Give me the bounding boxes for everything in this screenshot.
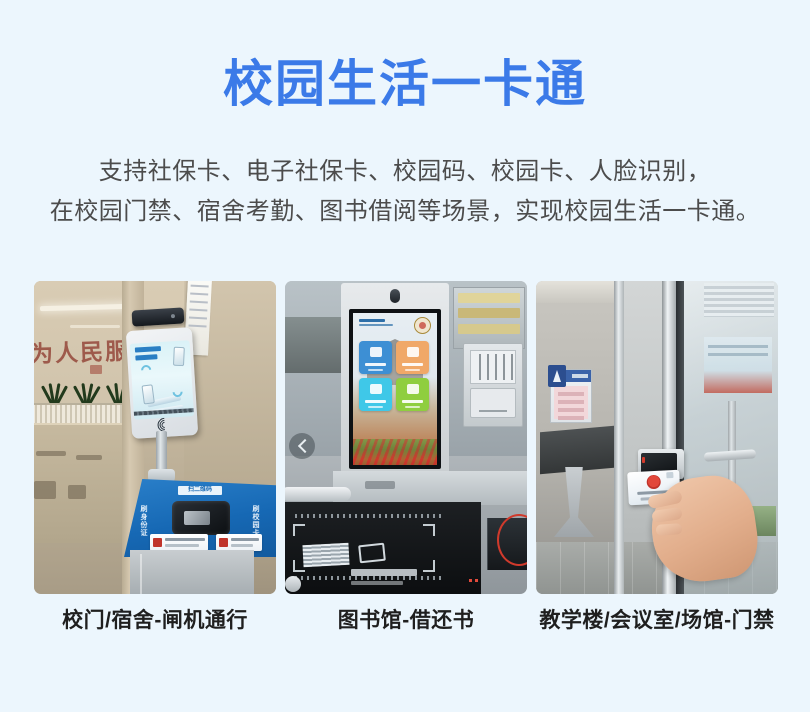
caption-library-kiosk: 图书馆-借还书 — [285, 606, 527, 636]
self-service-kiosk[interactable] — [341, 283, 449, 479]
kiosk-tile-return[interactable] — [396, 341, 429, 374]
kiosk-tile-borrow[interactable] — [359, 341, 392, 374]
screen-headline-icon — [135, 346, 161, 353]
screen-subheadline-icon — [135, 354, 157, 360]
panel-sticker-label — [150, 534, 208, 551]
nfc-wave-icon — [139, 363, 153, 377]
panel-sticker-label — [216, 534, 262, 551]
page-title: 校园生活一卡通 — [0, 56, 810, 112]
notice-body — [554, 386, 588, 419]
corner-marker-icon — [423, 524, 435, 536]
calligraphy-seal-icon — [90, 365, 102, 374]
book-placement-area[interactable] — [285, 502, 481, 594]
promo-page: 校园生活一卡通 支持社保卡、电子社保卡、校园码、校园卡、人脸识别， 在校园门禁、… — [0, 0, 810, 712]
screen-bottom-strip — [134, 408, 194, 416]
side-instruction-panel — [463, 343, 523, 427]
page-subtitle: 支持社保卡、电子社保卡、校园码、校园卡、人脸识别， 在校园门禁、宿舍考勤、图书借… — [0, 152, 810, 232]
corner-marker-icon — [423, 560, 435, 572]
deck-instruction-subtext — [351, 581, 403, 585]
book-outline-icon — [358, 543, 386, 564]
deck-knob — [285, 576, 301, 592]
dotted-border-top — [295, 514, 445, 518]
terminal-screen — [130, 340, 195, 420]
dotted-border-bottom — [295, 576, 445, 580]
kiosk-tile-renew[interactable] — [396, 378, 429, 411]
phone-illustration-icon — [141, 384, 154, 404]
photo-card-gate-turnstile[interactable]: 为人民服务 — [34, 281, 276, 594]
planter-box — [34, 403, 128, 423]
finger — [656, 523, 683, 536]
kiosk-desktop — [333, 471, 527, 505]
door-frame-left — [614, 281, 624, 594]
direction-sign-icon — [548, 365, 566, 387]
corner-marker-icon — [293, 524, 305, 536]
flower-bed-photo — [353, 439, 437, 465]
kiosk-tile-query[interactable] — [359, 378, 392, 411]
status-led-icon — [469, 579, 481, 582]
bookshelf — [453, 287, 525, 349]
scan-badge-label: 扫二维码 — [178, 486, 222, 495]
turnstile-body — [130, 550, 254, 594]
qr-scanner-window[interactable] — [172, 501, 230, 535]
photo-library-kiosk — [285, 281, 527, 594]
turnstile-top-panel: 扫二维码 刷身份证 刷校园卡 — [124, 479, 276, 557]
library-furniture — [285, 317, 345, 373]
roller-bar — [285, 487, 351, 501]
face-recognition-terminal[interactable] — [126, 327, 198, 439]
phone-illustration-icon — [173, 347, 185, 366]
photo-card-door-access[interactable] — [536, 281, 778, 594]
caption-row: 校门/宿舍-闸机通行 图书馆-借还书 教学楼/会议室/场馆-门禁 — [34, 606, 778, 636]
caption-gate-turnstile: 校门/宿舍-闸机通行 — [34, 606, 276, 636]
kiosk-camera-icon — [390, 289, 400, 303]
back-arrow-icon[interactable] — [289, 433, 315, 459]
kiosk-header-text — [359, 319, 393, 328]
ceiling-light-secondary-icon — [70, 325, 120, 328]
caption-door-access: 教学楼/会议室/场馆-门禁 — [536, 606, 778, 636]
reader-status-led-icon — [642, 457, 645, 463]
subtitle-line-1: 支持社保卡、电子社保卡、校园码、校园卡、人脸识别， — [0, 152, 810, 192]
ceiling-louver — [704, 283, 774, 317]
face-camera-icon — [132, 307, 185, 326]
book-illustration — [302, 543, 349, 567]
kiosk-screen[interactable] — [353, 313, 437, 465]
school-emblem-icon — [414, 317, 431, 334]
brand-logo — [365, 481, 395, 489]
national-emblem-icon — [646, 475, 661, 490]
photo-gate-turnstile: 为人民服务 — [34, 281, 276, 594]
exterior-building-view — [704, 337, 772, 393]
panel-right-text: 刷校园卡 — [250, 505, 260, 537]
photo-card-row: 为人民服务 — [34, 281, 778, 595]
interior-ceiling — [536, 281, 620, 303]
kiosk-display-bezel — [349, 309, 441, 469]
panel-left-text: 刷身份证 — [138, 505, 148, 537]
subtitle-line-2: 在校园门禁、宿舍考勤、图书借阅等场景，实现校园生活一卡通。 — [0, 192, 810, 232]
photo-door-access — [536, 281, 778, 594]
card-chip-icon — [666, 472, 673, 478]
instruction-note — [470, 350, 516, 384]
photo-card-library-kiosk[interactable] — [285, 281, 527, 594]
deck-instruction-text — [351, 569, 417, 576]
card-slot[interactable] — [470, 388, 516, 418]
interior-counter — [540, 426, 614, 474]
